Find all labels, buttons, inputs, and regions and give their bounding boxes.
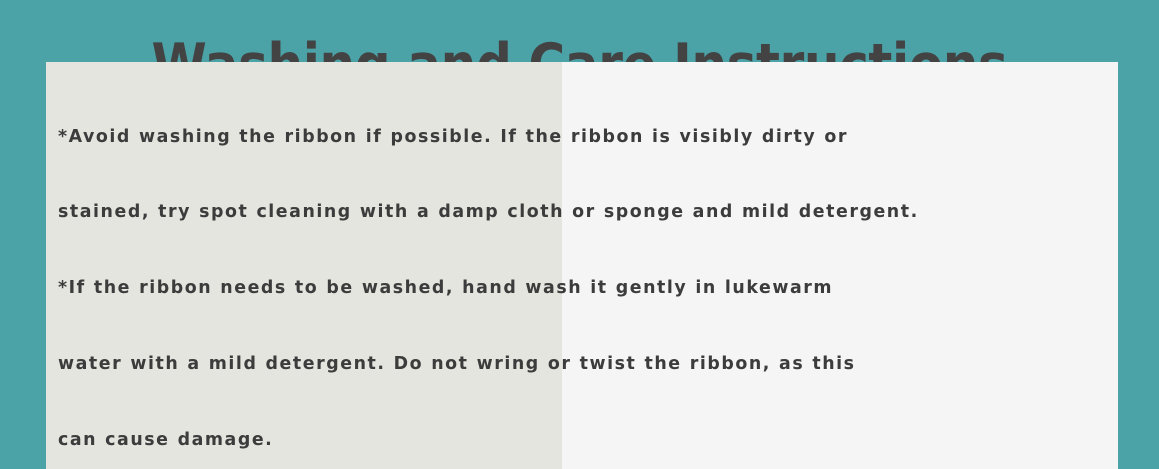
instruction-line: stained, try spot cleaning with a damp c…: [58, 200, 1118, 225]
instruction-line: *If the ribbon needs to be washed, hand …: [58, 276, 1118, 301]
poster-canvas: Washing and Care Instructions *Avoid was…: [0, 0, 1159, 469]
instructions-text-block: *Avoid washing the ribbon if possible. I…: [58, 74, 1118, 469]
instructions-panel: *Avoid washing the ribbon if possible. I…: [46, 62, 1118, 469]
instruction-line: can cause damage.: [58, 428, 1118, 453]
instruction-line: *Avoid washing the ribbon if possible. I…: [58, 125, 1118, 150]
instruction-line: water with a mild detergent. Do not wrin…: [58, 352, 1118, 377]
